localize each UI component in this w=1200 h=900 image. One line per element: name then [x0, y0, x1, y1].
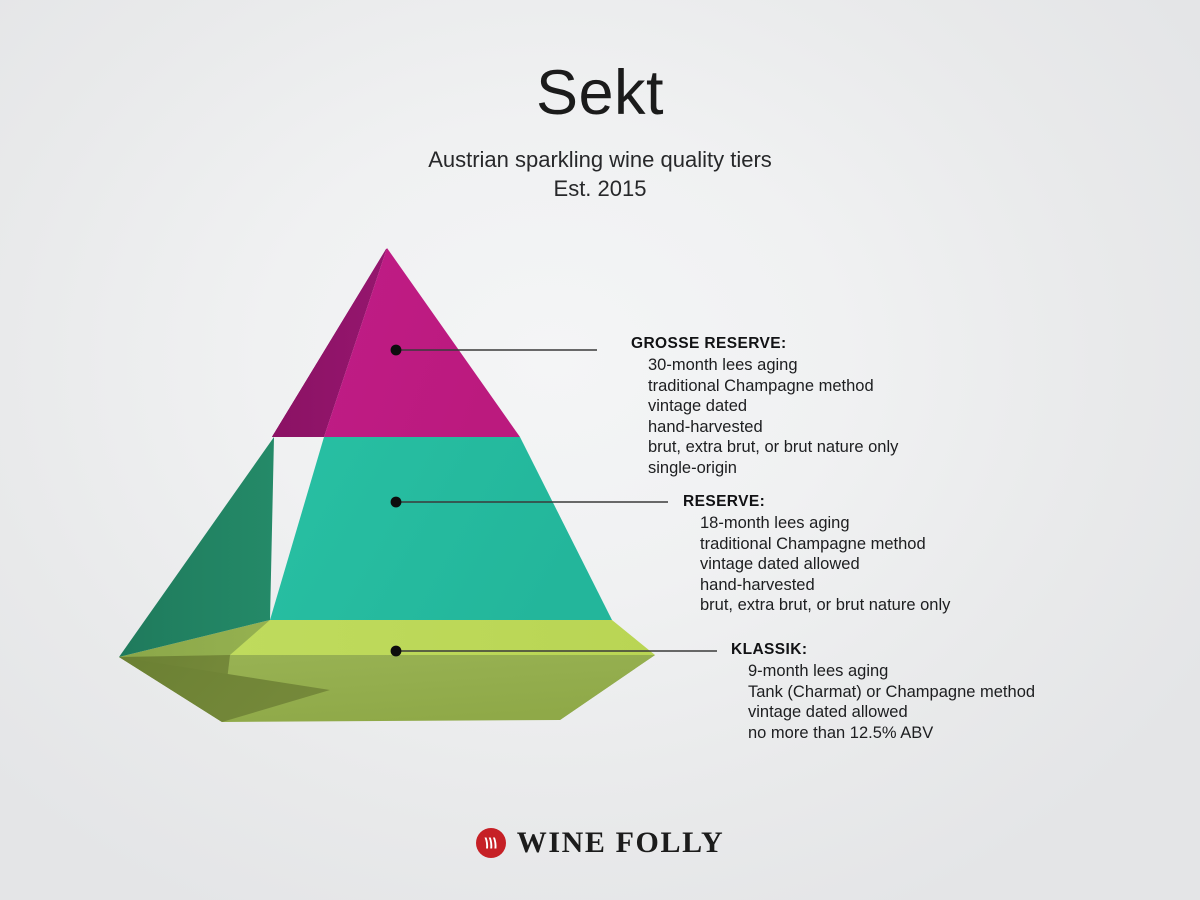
spec-item: traditional Champagne method	[700, 534, 950, 555]
spec-item: vintage dated allowed	[700, 554, 950, 575]
spec-item: hand-harvested	[700, 575, 950, 596]
spec-item: traditional Champagne method	[648, 376, 898, 397]
spec-item: brut, extra brut, or brut nature only	[648, 437, 898, 458]
brand-name: WINE FOLLY	[517, 828, 724, 858]
leader-dot-grosse-reserve	[391, 345, 402, 356]
spec-item: vintage dated	[648, 396, 898, 417]
spec-item: no more than 12.5% ABV	[748, 723, 1035, 744]
leader-dot-klassik	[391, 646, 402, 657]
spec-item: Tank (Charmat) or Champagne method	[748, 682, 1035, 703]
pyramid-diagram	[0, 0, 1200, 900]
callout-grosse-reserve: GROSSE RESERVE: 30-month lees aging trad…	[631, 334, 898, 478]
callout-reserve: RESERVE: 18-month lees aging traditional…	[683, 492, 950, 616]
callout-specs-grosse-reserve: 30-month lees aging traditional Champagn…	[631, 355, 898, 479]
callout-specs-reserve: 18-month lees aging traditional Champagn…	[683, 513, 950, 616]
spec-item: vintage dated allowed	[748, 702, 1035, 723]
pyramid-tier-klassik-front-face	[230, 620, 655, 655]
pyramid-tier-reserve-front-face	[270, 437, 612, 620]
infographic-canvas: Sekt Austrian sparkling wine quality tie…	[0, 0, 1200, 900]
leader-dot-reserve	[391, 497, 402, 508]
spec-item: hand-harvested	[648, 417, 898, 438]
spec-item: brut, extra brut, or brut nature only	[700, 595, 950, 616]
callout-klassik: KLASSIK: 9-month lees aging Tank (Charma…	[731, 640, 1035, 743]
callout-title-klassik: KLASSIK:	[731, 640, 1035, 661]
wine-folly-logo-icon	[476, 828, 506, 858]
callout-title-reserve: RESERVE:	[683, 492, 950, 513]
footer-branding: WINE FOLLY	[0, 828, 1200, 858]
pyramid-tier-reserve-side-face	[119, 437, 274, 657]
spec-item: single-origin	[648, 458, 898, 479]
spec-item: 9-month lees aging	[748, 661, 1035, 682]
callout-title-grosse-reserve: GROSSE RESERVE:	[631, 334, 898, 355]
callout-specs-klassik: 9-month lees aging Tank (Charmat) or Cha…	[731, 661, 1035, 743]
spec-item: 18-month lees aging	[700, 513, 950, 534]
spec-item: 30-month lees aging	[648, 355, 898, 376]
